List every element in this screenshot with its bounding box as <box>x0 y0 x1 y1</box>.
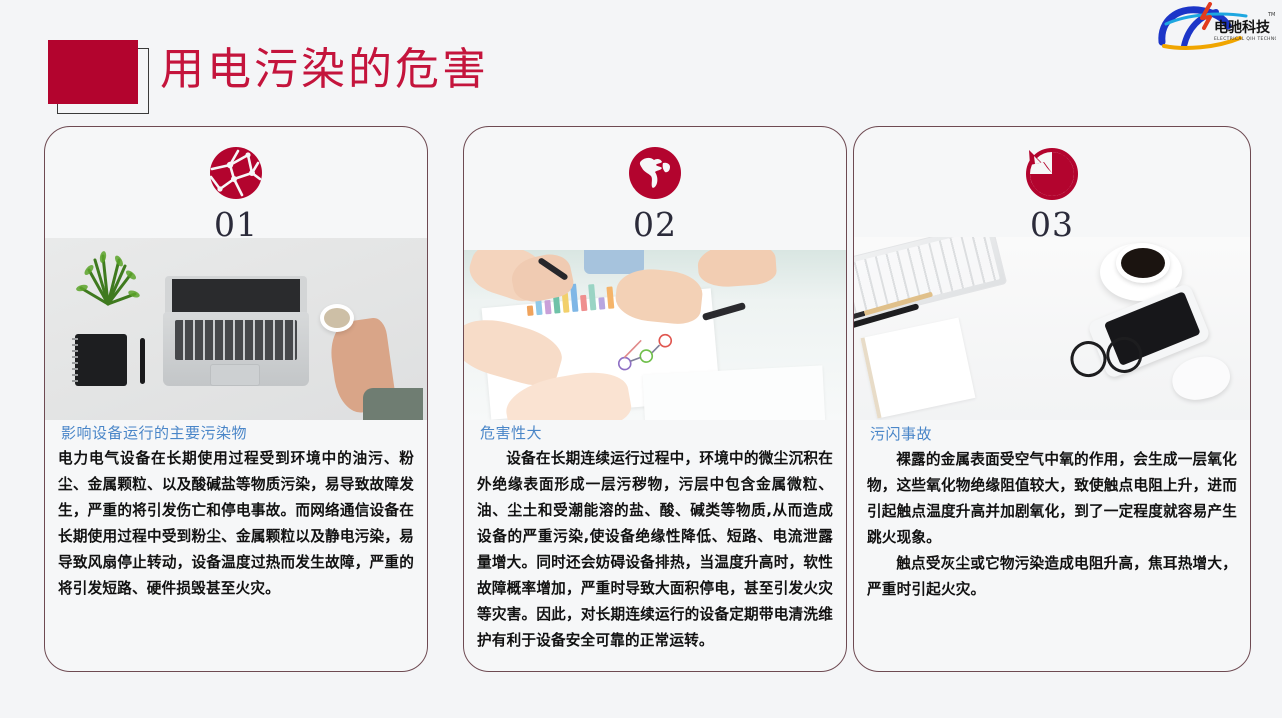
title-red-block <box>48 40 138 104</box>
card-image-01 <box>45 238 427 420</box>
hand-6 <box>697 250 778 289</box>
card-02[interactable]: 02 <box>463 126 847 672</box>
card-number-02: 02 <box>464 205 846 245</box>
diagram-on-paper <box>611 330 684 375</box>
pen <box>140 338 145 384</box>
sleeve <box>363 388 423 420</box>
page-title: 用电污染的危害 <box>160 38 489 102</box>
second-paper <box>643 365 826 420</box>
notepad <box>861 318 976 419</box>
earth-globe-icon <box>464 143 846 203</box>
card-01[interactable]: 01 <box>44 126 428 672</box>
logo-tm-mark: TM <box>1267 12 1275 18</box>
card-body-01: 影响设备运行的主要污染物 电力电气设备在长期使用过程受到环境中的油污、粉尘、金属… <box>45 422 427 602</box>
laptop-keyboard <box>175 320 297 360</box>
plant-decor <box>75 248 141 306</box>
pie-chart-arrow-icon <box>854 143 1250 203</box>
card-subhead-01: 影响设备运行的主要污染物 <box>61 422 414 443</box>
card-paragraph-01-1: 电力电气设备在长期使用过程受到环境中的油污、粉尘、金属颗粒、以及酸碱盐等物质污染… <box>58 446 414 602</box>
laptop-touchpad <box>210 364 260 386</box>
card-body-02: 危害性大 设备在长期连续运行过程中，环境中的微尘沉积在外绝缘表面形成一层污秽物，… <box>464 422 846 654</box>
mouse <box>1168 351 1233 404</box>
notebook <box>75 334 127 386</box>
card-paragraph-02-1: 设备在长期连续运行过程中，环境中的微尘沉积在外绝缘表面形成一层污秽物，污层中包含… <box>477 446 833 654</box>
coffee-cup <box>320 304 354 332</box>
laptop-screen <box>165 276 307 316</box>
cracked-network-globe-icon <box>45 143 427 203</box>
coffee-cup <box>1116 243 1170 283</box>
card-subhead-02: 危害性大 <box>480 422 833 443</box>
card-image-02 <box>464 250 846 420</box>
card-subhead-03: 污闪事故 <box>870 423 1237 444</box>
card-paragraph-03-1: 裸露的金属表面受空气中氧的作用，会生成一层氧化物，这些氧化物绝缘阻值较大，致使触… <box>867 447 1237 551</box>
card-body-03: 污闪事故 裸露的金属表面受空气中氧的作用，会生成一层氧化物，这些氧化物绝缘阻值较… <box>854 423 1250 603</box>
card-image-03 <box>854 237 1250 420</box>
cards-row: 01 <box>0 126 1282 674</box>
card-paragraph-03-2: 触点受灰尘或它物污染造成电阻升高，焦耳热增大，严重时引起火灾。 <box>867 551 1237 603</box>
page-header: 用电污染的危害 <box>0 22 1282 122</box>
card-03[interactable]: 03 污闪事故 裸露的金属表面受空气中氧的作用，会生成一层氧化物，这些氧化物绝缘… <box>853 126 1251 672</box>
